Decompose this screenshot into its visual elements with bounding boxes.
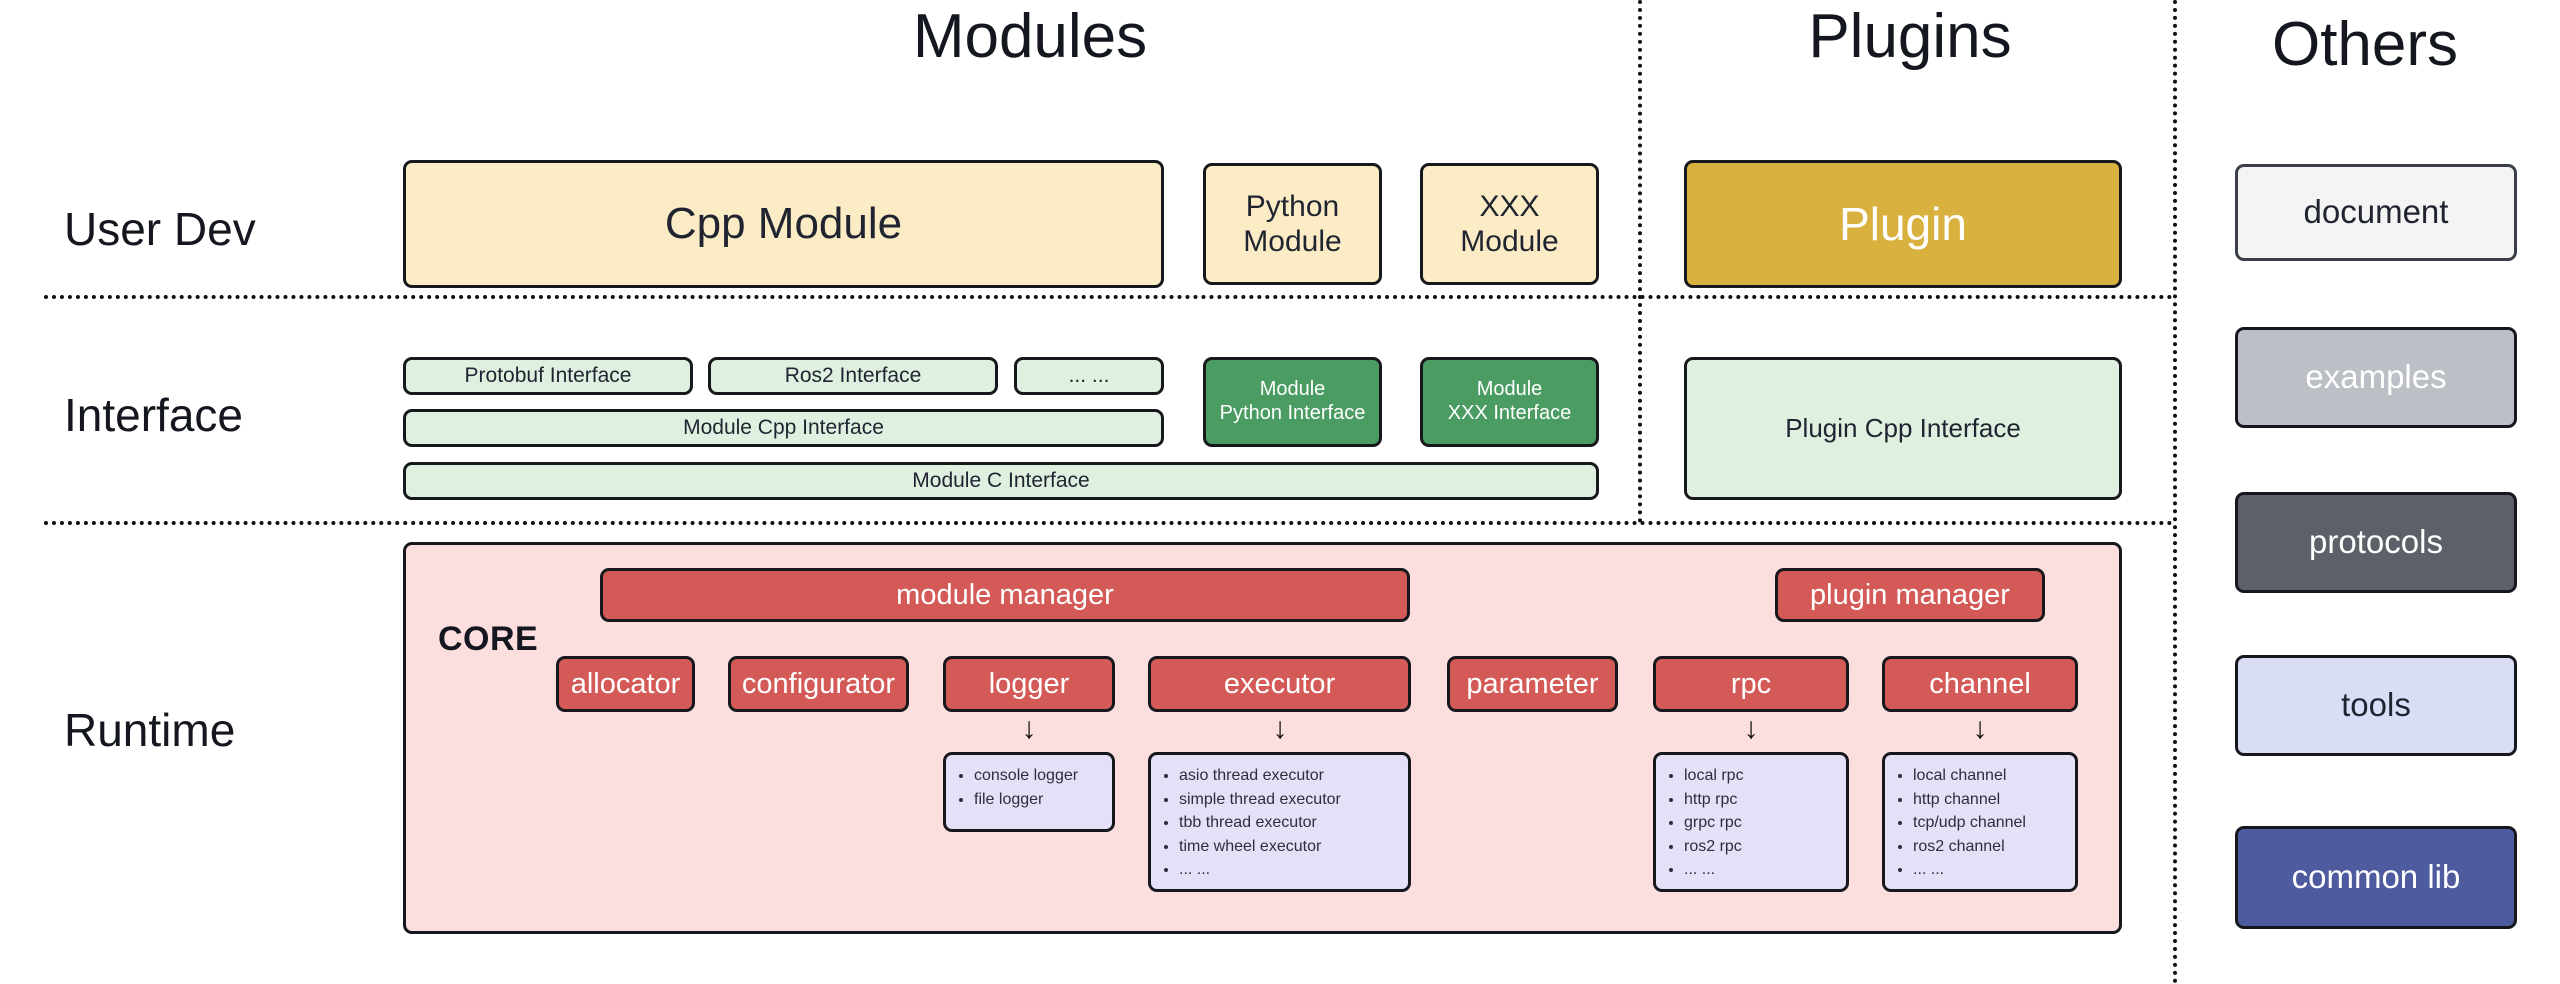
column-heading-plugins: Plugins <box>1660 6 2160 68</box>
node-tools[interactable]: tools <box>2235 655 2517 756</box>
column-heading-others: Others <box>2200 14 2530 76</box>
node-python-module-label-line2: Module <box>1243 224 1341 259</box>
list-channel-implementations[interactable]: local channelhttp channeltcp/udp channel… <box>1882 752 2078 892</box>
node-module-python-interface-line1: Module <box>1260 378 1326 402</box>
node-common-lib[interactable]: common lib <box>2235 826 2517 929</box>
list-item: time wheel executor <box>1179 835 1398 859</box>
list-item: tcp/udp channel <box>1913 811 2065 835</box>
node-examples[interactable]: examples <box>2235 327 2517 428</box>
list-item: grpc rpc <box>1684 811 1836 835</box>
row-label-user-dev: User Dev <box>64 202 256 256</box>
list-item: ... ... <box>1684 858 1836 882</box>
node-python-module[interactable]: Python Module <box>1203 163 1382 285</box>
executor-items-list: asio thread executorsimple thread execut… <box>1159 764 1398 882</box>
node-module-manager[interactable]: module manager <box>600 568 1410 622</box>
node-xxx-module[interactable]: XXX Module <box>1420 163 1599 285</box>
rpc-items-list: local rpchttp rpcgrpc rpcros2 rpc... ... <box>1664 764 1836 882</box>
list-item: local channel <box>1913 764 2065 788</box>
node-logger[interactable]: logger <box>943 656 1115 712</box>
list-item: simple thread executor <box>1179 788 1398 812</box>
node-ellipsis-interface[interactable]: ... ... <box>1014 357 1164 395</box>
arrow-executor-down: ↓ <box>1260 714 1300 744</box>
node-allocator[interactable]: allocator <box>556 656 695 712</box>
list-item: asio thread executor <box>1179 764 1398 788</box>
node-module-cpp-interface[interactable]: Module Cpp Interface <box>403 409 1164 447</box>
node-protocols[interactable]: protocols <box>2235 492 2517 593</box>
separator-plugins-others <box>2173 0 2177 984</box>
arrow-channel-down: ↓ <box>1960 714 2000 744</box>
node-module-xxx-interface-line2: XXX Interface <box>1448 402 1571 426</box>
separator-interface-runtime <box>44 521 2174 525</box>
list-item: ros2 rpc <box>1684 835 1836 859</box>
node-plugin-manager[interactable]: plugin manager <box>1775 568 2045 622</box>
core-label: CORE <box>438 620 538 659</box>
node-parameter[interactable]: parameter <box>1447 656 1618 712</box>
list-item: console logger <box>974 764 1102 788</box>
list-item: http channel <box>1913 788 2065 812</box>
logger-items-list: console loggerfile logger <box>954 764 1102 811</box>
separator-userdev-interface <box>44 295 2174 299</box>
separator-modules-plugins <box>1638 0 1642 523</box>
node-module-c-interface[interactable]: Module C Interface <box>403 462 1599 500</box>
arrow-rpc-down: ↓ <box>1731 714 1771 744</box>
node-plugin-cpp-interface[interactable]: Plugin Cpp Interface <box>1684 357 2122 500</box>
list-item: ... ... <box>1913 858 2065 882</box>
node-xxx-module-label-line1: XXX <box>1479 189 1539 224</box>
node-module-python-interface[interactable]: Module Python Interface <box>1203 357 1382 447</box>
list-item: ... ... <box>1179 858 1398 882</box>
arrow-logger-down: ↓ <box>1009 714 1049 744</box>
row-label-runtime: Runtime <box>64 703 235 757</box>
node-rpc[interactable]: rpc <box>1653 656 1849 712</box>
node-cpp-module[interactable]: Cpp Module <box>403 160 1164 288</box>
node-executor[interactable]: executor <box>1148 656 1411 712</box>
node-document[interactable]: document <box>2235 164 2517 261</box>
list-executor-implementations[interactable]: asio thread executorsimple thread execut… <box>1148 752 1411 892</box>
node-configurator[interactable]: configurator <box>728 656 909 712</box>
list-logger-implementations[interactable]: console loggerfile logger <box>943 752 1115 832</box>
list-item: ros2 channel <box>1913 835 2065 859</box>
node-python-module-label-line1: Python <box>1246 189 1339 224</box>
node-module-python-interface-line2: Python Interface <box>1220 402 1366 426</box>
node-ros2-interface[interactable]: Ros2 Interface <box>708 357 998 395</box>
node-plugin[interactable]: Plugin <box>1684 160 2122 288</box>
column-heading-modules: Modules <box>700 6 1360 68</box>
node-protobuf-interface[interactable]: Protobuf Interface <box>403 357 693 395</box>
row-label-interface: Interface <box>64 388 243 442</box>
channel-items-list: local channelhttp channeltcp/udp channel… <box>1893 764 2065 882</box>
list-item: file logger <box>974 788 1102 812</box>
list-item: http rpc <box>1684 788 1836 812</box>
node-xxx-module-label-line2: Module <box>1460 224 1558 259</box>
node-module-xxx-interface-line1: Module <box>1477 378 1543 402</box>
list-item: tbb thread executor <box>1179 811 1398 835</box>
list-item: local rpc <box>1684 764 1836 788</box>
list-rpc-implementations[interactable]: local rpchttp rpcgrpc rpcros2 rpc... ... <box>1653 752 1849 892</box>
node-channel[interactable]: channel <box>1882 656 2078 712</box>
node-module-xxx-interface[interactable]: Module XXX Interface <box>1420 357 1599 447</box>
